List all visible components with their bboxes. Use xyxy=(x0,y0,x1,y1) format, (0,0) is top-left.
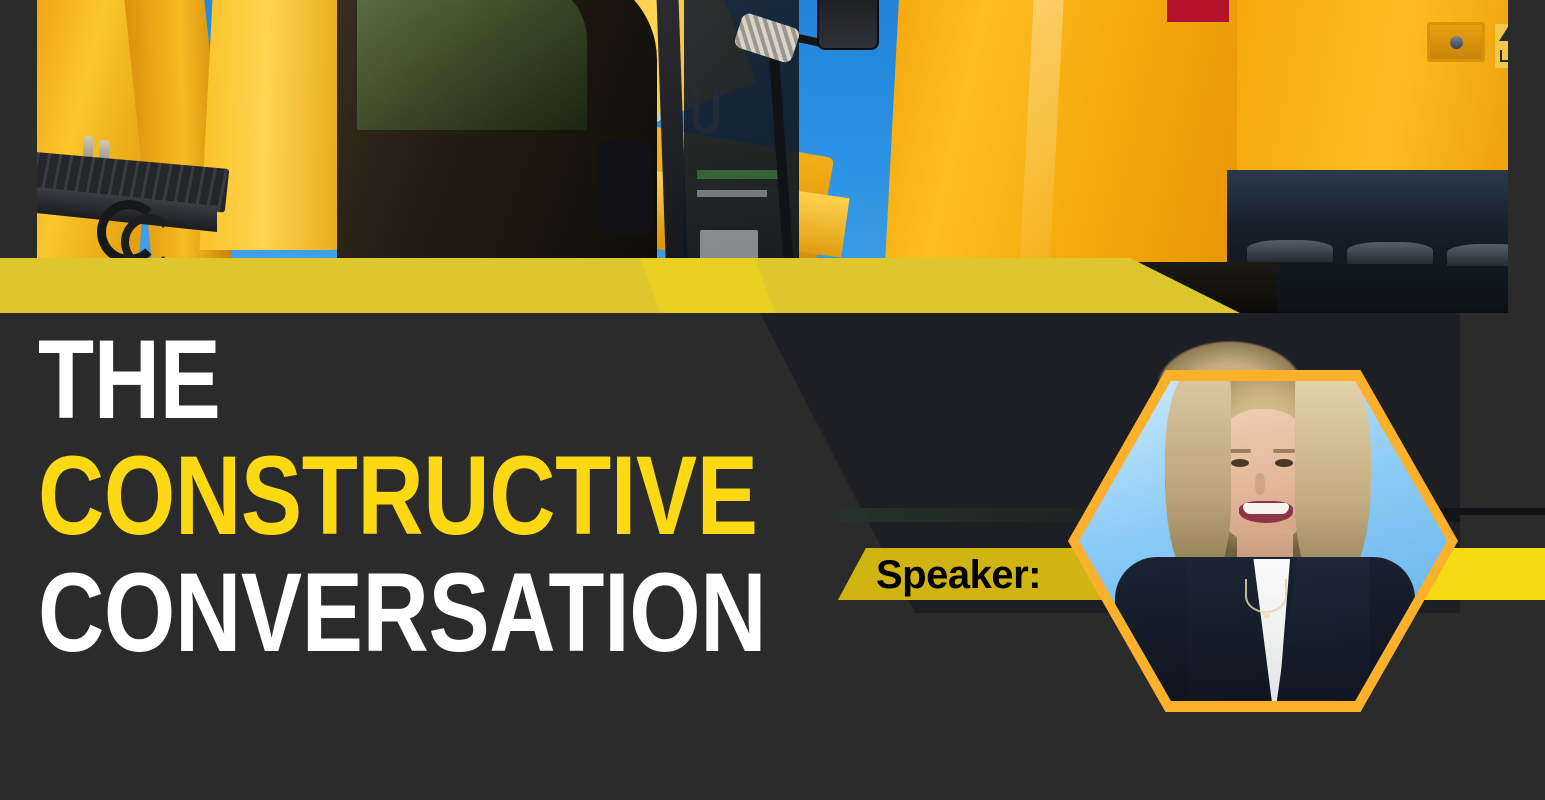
panel-shade-strip-right xyxy=(1460,508,1545,515)
track-shoe-a xyxy=(1247,240,1333,262)
portrait-teeth xyxy=(1243,503,1289,514)
speaker-hexagon-portrait xyxy=(1068,370,1458,712)
portrait-necklace xyxy=(1245,579,1287,613)
track-shoe-c xyxy=(1447,244,1508,266)
title-line-2: CONSTRUCTIVE xyxy=(38,448,579,544)
cab-window-reflection xyxy=(357,0,587,130)
portrait-eye-right xyxy=(1275,459,1293,467)
portrait-nose xyxy=(1255,473,1265,495)
portrait-pendant xyxy=(1263,611,1270,618)
title-line-1: THE xyxy=(38,332,579,428)
track-shoe-b xyxy=(1347,242,1433,264)
warning-decal xyxy=(1495,24,1508,68)
service-hatch-latch xyxy=(1450,36,1463,49)
cab-glass-reflection-a xyxy=(697,170,787,179)
counterweight-panel xyxy=(884,0,1260,286)
portrait-eyebrow-left xyxy=(1229,449,1251,453)
poster-title: THE CONSTRUCTIVE CONVERSATION xyxy=(38,332,698,661)
portrait-eye-left xyxy=(1231,459,1249,467)
speaker-label: Speaker: xyxy=(876,552,1041,598)
poster-canvas: THE CONSTRUCTIVE CONVERSATION Speaker: xyxy=(0,0,1545,800)
portrait-eyebrow-right xyxy=(1273,449,1295,453)
title-line-3: CONVERSATION xyxy=(38,565,579,661)
side-mirror xyxy=(817,0,879,50)
cab-glass-reflection-b xyxy=(697,190,767,197)
red-marker-decal xyxy=(1167,0,1229,22)
portrait-hair-left xyxy=(1165,381,1231,586)
cab-door-handle xyxy=(597,140,653,235)
